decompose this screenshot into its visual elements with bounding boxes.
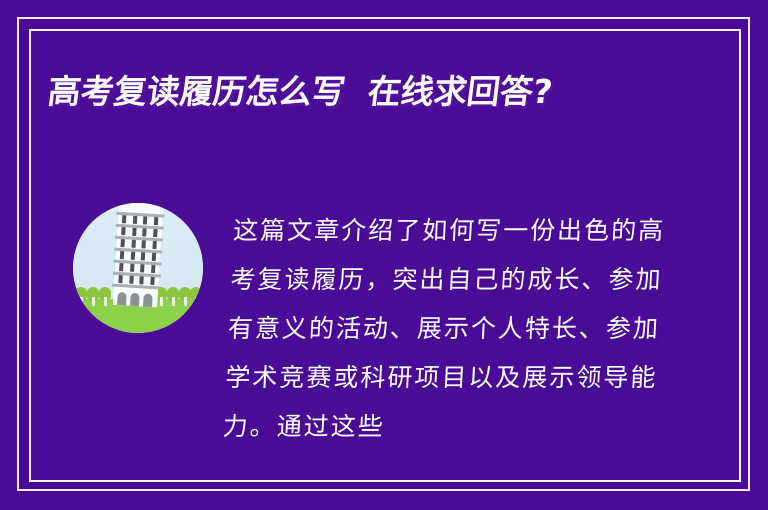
- article-summary-text: 这篇文章介绍了如何写一份出色的高考复读履历，突出自己的成长、参加有意义的活动、展…: [222, 206, 667, 451]
- tree-icon: [167, 287, 179, 305]
- poster-canvas: 高考复读履历怎么写 在线求回答?: [0, 0, 768, 510]
- leaning-tower-icon: [111, 203, 165, 307]
- illustration-badge: [73, 203, 203, 333]
- tree-icon: [190, 287, 202, 305]
- tree-icon: [87, 287, 99, 305]
- tree-icon: [99, 287, 111, 305]
- tree-icon: [75, 287, 87, 305]
- page-title: 高考复读履历怎么写 在线求回答?: [45, 66, 691, 118]
